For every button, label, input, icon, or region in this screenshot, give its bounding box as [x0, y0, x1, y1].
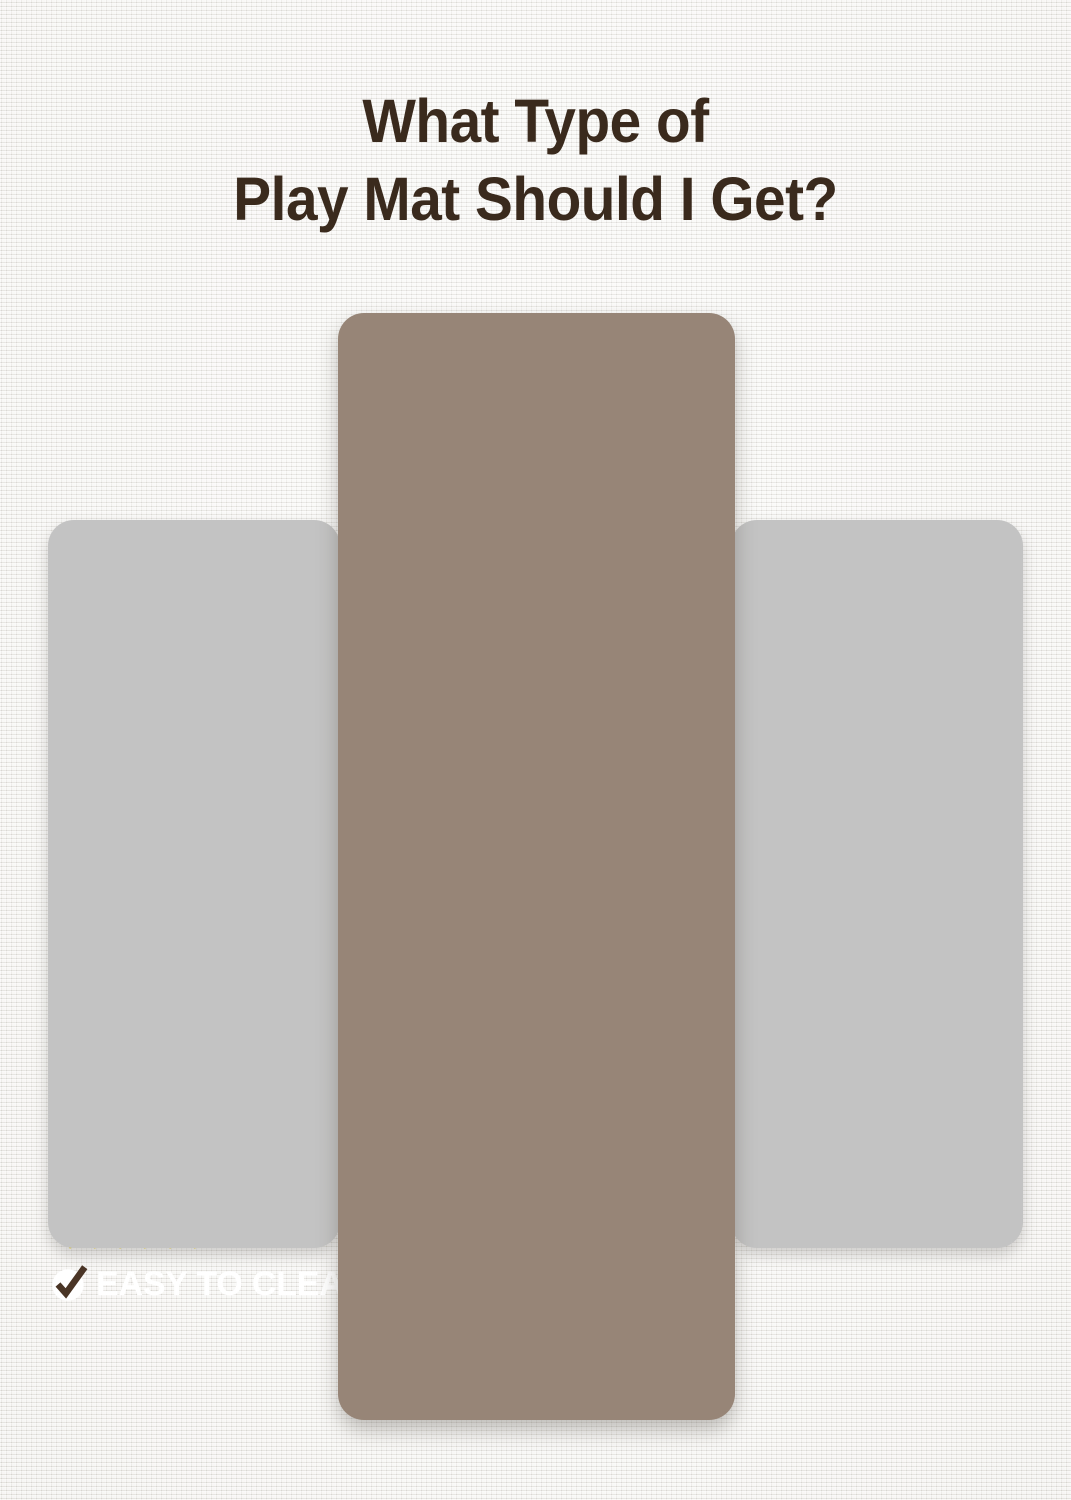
page-title: What Type of Play Mat Should I Get? — [37, 82, 1033, 238]
check-circle-icon — [48, 1263, 90, 1305]
comparison-card-puzzel-mats — [48, 520, 340, 1248]
feature-label: EASY TO CLEAN — [96, 1265, 368, 1304]
comparison-card-rugs — [731, 520, 1023, 1248]
comparison-card-baby-care-play-mat — [338, 313, 735, 1420]
